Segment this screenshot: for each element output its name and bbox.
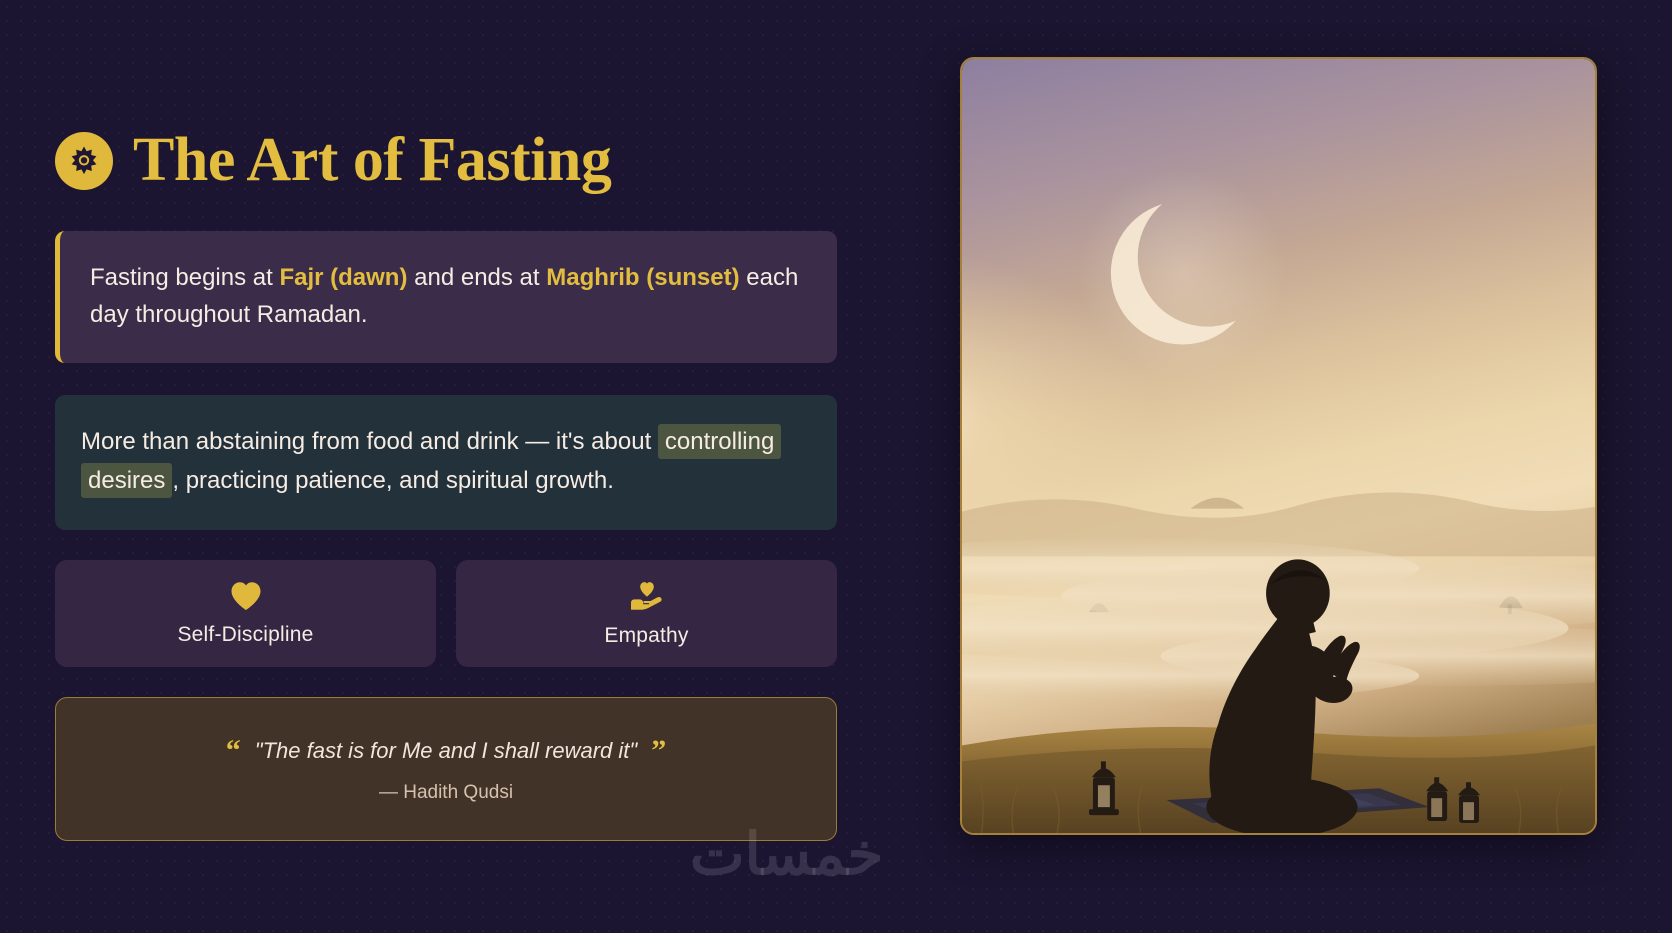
site-watermark: خمسات — [690, 820, 883, 888]
virtue-card-self-discipline[interactable]: Self-Discipline — [55, 560, 436, 667]
fasting-timing-card: Fasting begins at Fajr (dawn) and ends a… — [55, 231, 837, 363]
fasting-meaning-card: More than abstaining from food and drink… — [55, 395, 837, 530]
quote-line: “ "The fast is for Me and I shall reward… — [96, 736, 796, 766]
virtue-label: Self-Discipline — [177, 623, 313, 647]
photo-column — [885, 0, 1672, 933]
hand-holding-heart-icon — [629, 580, 665, 612]
quote-attribution: — Hadith Qudsi — [96, 782, 796, 804]
heart-icon — [230, 581, 262, 611]
maghrib-highlight: Maghrib (sunset) — [546, 264, 739, 291]
virtue-card-empathy[interactable]: Empathy — [456, 560, 837, 667]
quote-close-icon: ” — [651, 736, 666, 766]
sun-burst-icon — [55, 132, 113, 190]
prayer-scene-photo — [960, 57, 1597, 835]
quote-text: "The fast is for Me and I shall reward i… — [255, 738, 637, 764]
page-title: The Art of Fasting — [133, 128, 611, 193]
content-column: The Art of Fasting Fasting begins at Faj… — [0, 0, 885, 933]
fasting-meaning-text: More than abstaining from food and drink… — [81, 423, 803, 500]
timing-text-2: and ends at — [407, 264, 546, 291]
timing-text-1: Fasting begins at — [90, 264, 279, 291]
meaning-text-2: , practicing patience, and spiritual gro… — [172, 467, 614, 494]
virtue-pill-row: Self-Discipline Empathy — [55, 560, 837, 667]
fasting-timing-text: Fasting begins at Fajr (dawn) and ends a… — [90, 259, 803, 333]
quote-open-icon: “ — [226, 736, 241, 766]
fajr-highlight: Fajr (dawn) — [279, 264, 407, 291]
meaning-text-1: More than abstaining from food and drink… — [81, 428, 658, 455]
virtue-label: Empathy — [604, 624, 688, 648]
slide-root: The Art of Fasting Fasting begins at Faj… — [0, 0, 1672, 933]
page-header: The Art of Fasting — [55, 128, 885, 193]
